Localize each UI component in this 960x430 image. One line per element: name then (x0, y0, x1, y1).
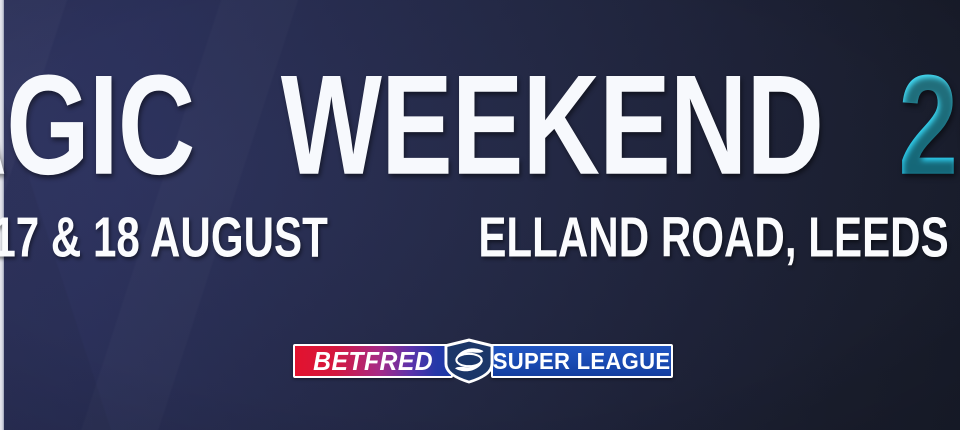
headline: MAGIC WEEKEND 2024 (0, 56, 960, 196)
betfred-wordmark: BETFRED (313, 346, 433, 377)
headline-year: 2024 (898, 55, 960, 197)
event-venue: ELLAND ROAD, LEEDS (478, 210, 948, 266)
subheadline: 17 & 18 AUGUST ELLAND ROAD, LEEDS (0, 206, 960, 270)
headline-word-magic: MAGIC (0, 55, 195, 197)
betfred-sponsor-bar: BETFRED (293, 344, 453, 378)
betfred-super-league-logo: BETFRED SUPER LEAGUE (293, 342, 673, 380)
event-dates: 17 & 18 AUGUST (0, 210, 328, 266)
headline-word-weekend: WEEKEND (281, 55, 823, 197)
super-league-bar: SUPER LEAGUE (491, 344, 673, 378)
super-league-shield-icon (442, 338, 496, 384)
super-league-wordmark: SUPER LEAGUE (493, 348, 671, 375)
magic-weekend-promo-banner: MAGIC WEEKEND 2024 17 & 18 AUGUST ELLAND… (0, 0, 960, 430)
